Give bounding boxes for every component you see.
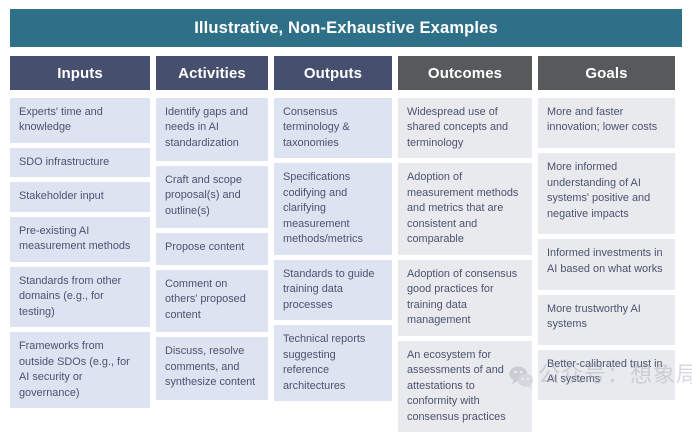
cell-text: More informed understanding of AI system… [547,160,666,222]
cell-text: Comment on others' proposed content [165,277,259,323]
cell: Technical reports suggesting reference a… [274,325,392,401]
cell-text: SDO infrastructure [19,155,109,170]
column-outputs: OutputsConsensus terminology & taxonomie… [274,56,392,400]
column-header-inputs[interactable]: Inputs [10,56,150,90]
cell-text: Standards from other domains (e.g., for … [19,274,141,320]
cell: Propose content [156,233,268,265]
cell: Informed investments in AI based on what… [538,239,675,289]
cell: Specifications codifying and clarifying … [274,163,392,254]
column-header-label: Outcomes [428,65,502,82]
cell: Standards to guide training data process… [274,260,392,320]
cell: Consensus terminology & taxonomies [274,98,392,158]
cell-text: Adoption of consensus good practices for… [407,267,523,329]
cell-text: More trustworthy AI systems [547,302,666,333]
column-header-outcomes[interactable]: Outcomes [398,56,532,90]
cell: Experts' time and knowledge [10,98,150,143]
cell: An ecosystem for assessments of and atte… [398,341,532,432]
cell: Identify gaps and needs in AI standardiz… [156,98,268,161]
cell-text: Discuss, resolve comments, and synthesiz… [165,344,259,390]
cell-text: Better-calibrated trust in AI systems [547,357,666,388]
cell-text: More and faster innovation; lower costs [547,105,666,136]
cell: Adoption of consensus good practices for… [398,260,532,336]
cell: More trustworthy AI systems [538,295,675,345]
cell-text: Frameworks from outside SDOs (e.g., for … [19,339,141,401]
column-inputs: InputsExperts' time and knowledgeSDO inf… [10,56,150,400]
cell-text: Widespread use of shared concepts and te… [407,105,523,151]
page-title: Illustrative, Non-Exhaustive Examples [194,19,498,38]
cell-text: Consensus terminology & taxonomies [283,105,383,151]
cell-text: Propose content [165,240,244,255]
cell-text: Technical reports suggesting reference a… [283,332,383,394]
cell-text: Informed investments in AI based on what… [547,246,666,277]
cell: More and faster innovation; lower costs [538,98,675,148]
logic-model-diagram: Illustrative, Non-Exhaustive Examples In… [0,0,692,406]
cell-text: Experts' time and knowledge [19,105,141,136]
cell: Craft and scope proposal(s) and outline(… [156,166,268,229]
cell-text: Identify gaps and needs in AI standardiz… [165,105,259,151]
column-header-outputs[interactable]: Outputs [274,56,392,90]
cell-text: Stakeholder input [19,189,104,204]
cell: SDO infrastructure [10,148,150,177]
diagram-title-bar: Illustrative, Non-Exhaustive Examples [10,9,682,47]
column-header-label: Activities [178,65,246,82]
cell-text: Standards to guide training data process… [283,267,383,313]
column-outcomes: OutcomesWidespread use of shared concept… [398,56,532,400]
column-header-label: Outputs [304,65,362,82]
cell: Frameworks from outside SDOs (e.g., for … [10,332,150,408]
cell-text: Adoption of measurement methods and metr… [407,170,523,247]
column-goals: GoalsMore and faster innovation; lower c… [538,56,675,400]
columns-container: InputsExperts' time and knowledgeSDO inf… [10,56,682,400]
cell: Stakeholder input [10,182,150,211]
cell: Better-calibrated trust in AI systems [538,350,675,400]
cell-text: An ecosystem for assessments of and atte… [407,348,523,425]
cell: Adoption of measurement methods and metr… [398,163,532,254]
cell-text: Craft and scope proposal(s) and outline(… [165,173,259,219]
cell: Widespread use of shared concepts and te… [398,98,532,158]
cell: Comment on others' proposed content [156,270,268,333]
cell: Pre-existing AI measurement methods [10,217,150,262]
cell: More informed understanding of AI system… [538,153,675,234]
column-header-activities[interactable]: Activities [156,56,268,90]
cell: Standards from other domains (e.g., for … [10,267,150,327]
column-header-goals[interactable]: Goals [538,56,675,90]
column-header-label: Goals [585,65,627,82]
column-activities: ActivitiesIdentify gaps and needs in AI … [156,56,268,400]
cell-text: Specifications codifying and clarifying … [283,170,383,247]
column-header-label: Inputs [57,65,103,82]
cell: Discuss, resolve comments, and synthesiz… [156,337,268,400]
cell-text: Pre-existing AI measurement methods [19,224,141,255]
